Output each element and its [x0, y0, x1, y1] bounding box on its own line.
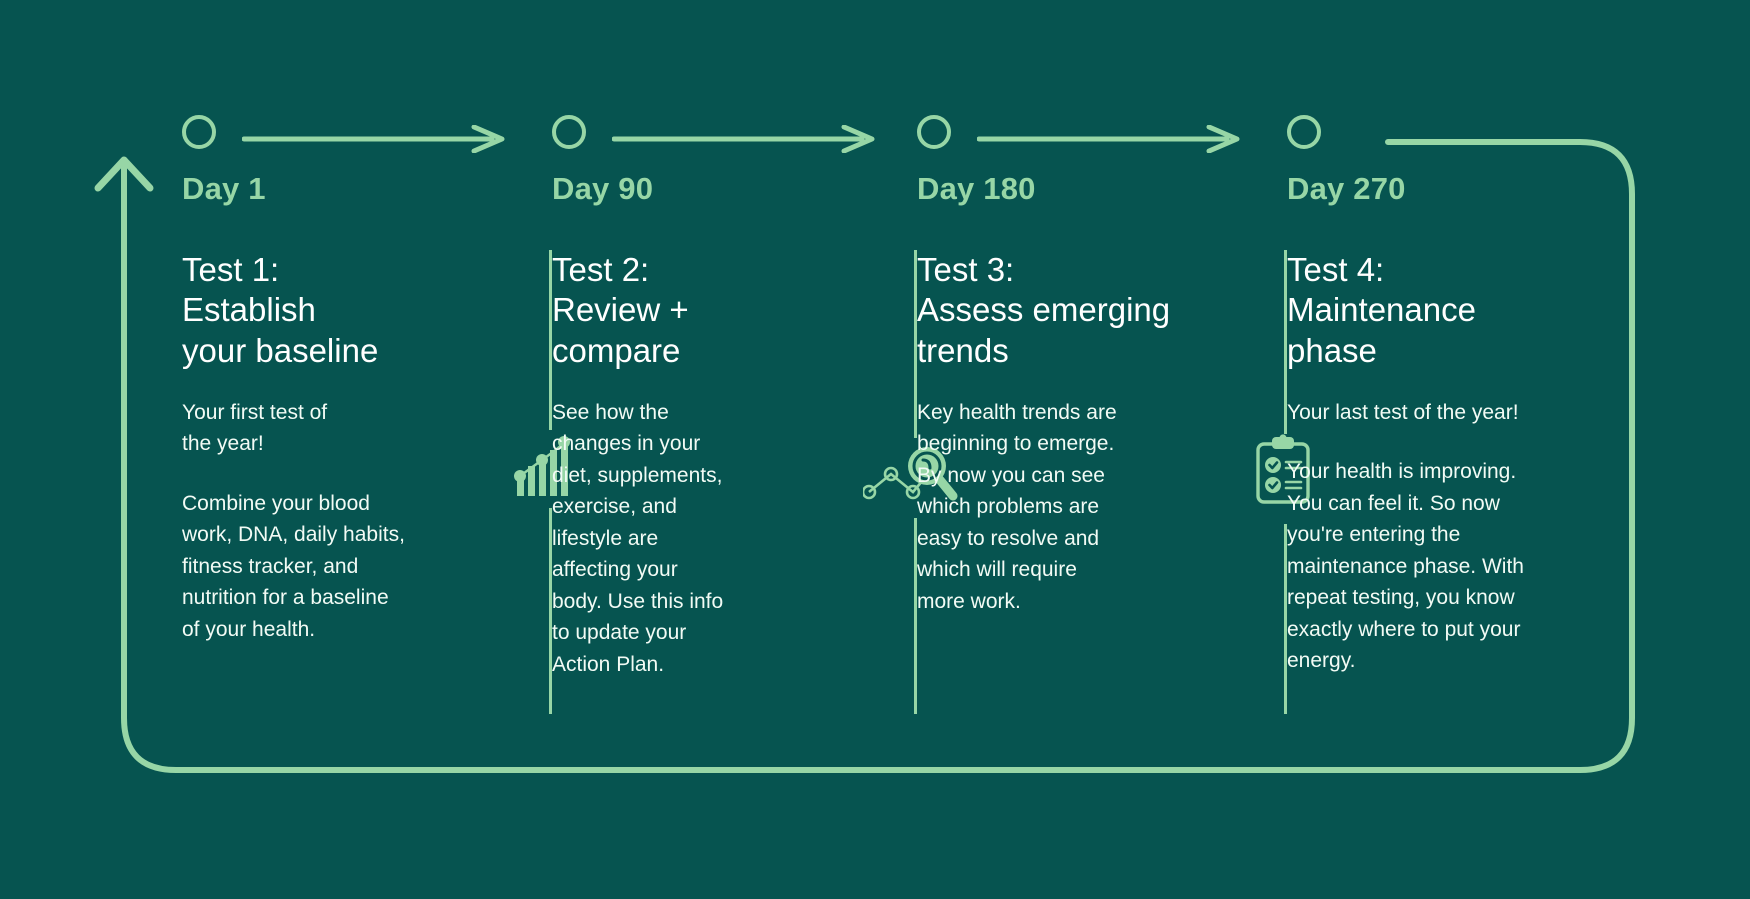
day-label-1: Day 1 [182, 172, 496, 206]
timeline-step-4[interactable]: Day 270 Test 4: Maintenance phase Your l… [1287, 112, 1612, 852]
timeline-infographic: Day 1 Test 1: Establish your baseline Yo… [0, 0, 1750, 899]
test-body-3-p1: Key health trends are beginning to emerg… [917, 397, 1239, 618]
circle-marker-icon [552, 115, 586, 149]
timeline-step-2[interactable]: Day 90 Test 2: Review + compare See how … [552, 112, 917, 852]
test-body-2-p1: See how the changes in your diet, supple… [552, 397, 865, 681]
arrow-right-icon [612, 125, 880, 143]
step-1-node-row [182, 112, 496, 166]
test-title-3: Test 3: Assess emerging trends [917, 250, 1239, 371]
circle-marker-icon [182, 115, 216, 149]
day-label-3: Day 180 [917, 172, 1239, 206]
test-body-1-p1: Your first test of the year! [182, 397, 496, 460]
test-body-4-p1: Your last test of the year! [1287, 397, 1612, 429]
test-body-4-p2: Your health is improving. You can feel i… [1287, 456, 1612, 677]
test-body-1-p2: Combine your blood work, DNA, daily habi… [182, 488, 496, 646]
test-title-1: Test 1: Establish your baseline [182, 250, 496, 371]
timeline-step-3[interactable]: Day 180 Test 3: Assess emerging trends K… [917, 112, 1287, 852]
arrow-right-icon [242, 125, 510, 143]
day-label-4: Day 270 [1287, 172, 1612, 206]
circle-marker-icon [1287, 115, 1321, 149]
step-4-node-row [1287, 112, 1612, 166]
step-2-node-row [552, 112, 865, 166]
day-label-2: Day 90 [552, 172, 865, 206]
timeline-columns: Day 1 Test 1: Establish your baseline Yo… [182, 112, 1612, 852]
test-title-2: Test 2: Review + compare [552, 250, 865, 371]
timeline-step-1[interactable]: Day 1 Test 1: Establish your baseline Yo… [182, 112, 552, 852]
arrow-right-icon [977, 125, 1245, 143]
step-3-node-row [917, 112, 1239, 166]
circle-marker-icon [917, 115, 951, 149]
test-title-4: Test 4: Maintenance phase [1287, 250, 1612, 371]
